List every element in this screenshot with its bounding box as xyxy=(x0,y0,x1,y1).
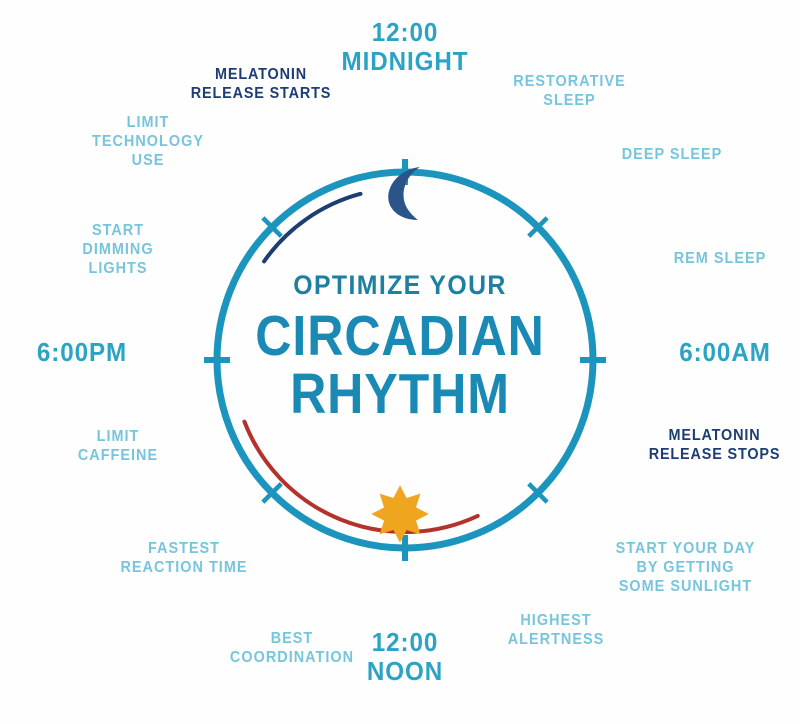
label-start-your-day: START YOUR DAY BY GETTING SOME SUNLIGHT xyxy=(604,540,767,597)
label-deep-sleep: DEEP SLEEP xyxy=(612,146,733,165)
label-rem-sleep: REM SLEEP xyxy=(664,250,776,269)
label-start-dimming-lights: START DIMMING LIGHTS xyxy=(53,222,183,279)
label-restorative-sleep: RESTORATIVE SLEEP xyxy=(493,73,646,111)
title-line-optimize-your: OPTIMIZE YOUR xyxy=(216,272,584,299)
label-highest-alertness: HIGHEST ALERTNESS xyxy=(491,612,621,650)
label-melatonin-release-stops: MELATONIN RELEASE STOPS xyxy=(638,427,791,465)
label-limit-caffeine: LIMIT CAFFEINE xyxy=(58,428,179,466)
label-melatonin-release-starts: MELATONIN RELEASE STARTS xyxy=(182,66,340,104)
label-limit-technology-use: LIMIT TECHNOLOGY USE xyxy=(83,114,213,171)
title-line-rhythm: RHYTHM xyxy=(224,364,576,424)
melatonin-release-arc xyxy=(264,194,360,261)
moon-icon xyxy=(372,163,426,223)
infographic-canvas: OPTIMIZE YOUR CIRCADIAN RHYTHM MELATONIN… xyxy=(0,0,800,724)
clock-marker-midnight: 12:00 MIDNIGHT xyxy=(326,18,484,76)
sun-icon xyxy=(368,482,432,546)
clock-marker-six-pm: 6:00PM xyxy=(26,338,138,367)
label-fastest-reaction-time: FASTEST REACTION TIME xyxy=(110,540,259,578)
performance-peak-arc xyxy=(244,422,477,532)
title-line-circadian: CIRCADIAN xyxy=(224,306,576,366)
clock-marker-noon: 12:00 NOON xyxy=(326,628,484,686)
center-title-block: OPTIMIZE YOUR CIRCADIAN RHYTHM xyxy=(200,272,600,425)
clock-marker-six-am: 6:00AM xyxy=(669,338,781,367)
